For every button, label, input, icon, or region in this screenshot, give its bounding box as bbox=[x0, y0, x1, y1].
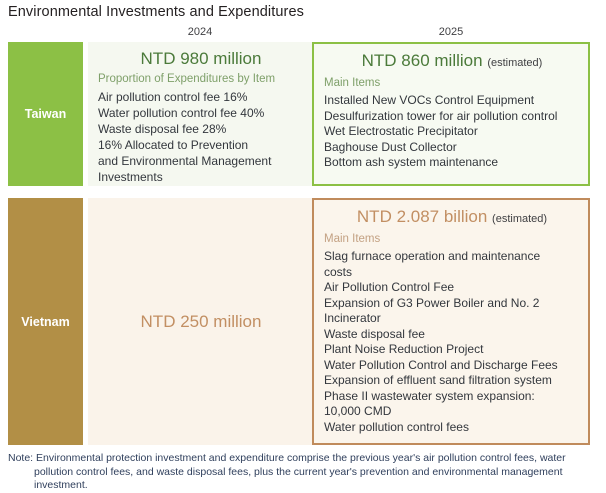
amount-vietnam-2024: NTD 250 million bbox=[141, 310, 262, 334]
cell-vietnam-2024: NTD 250 million bbox=[88, 198, 312, 445]
subhead-vietnam-2025: Main Items bbox=[324, 232, 580, 247]
item-list-taiwan-2025: Installed New VOCs Control Equipment Des… bbox=[324, 93, 580, 171]
list-item: Desulfurization tower for air pollution … bbox=[324, 109, 580, 125]
amount-taiwan-2025-value: NTD 860 million bbox=[362, 51, 483, 70]
subhead-taiwan-2025: Main Items bbox=[324, 76, 580, 91]
list-item: 16% Allocated to Prevention and Environm… bbox=[98, 137, 304, 185]
list-item: Waste disposal fee 28% bbox=[98, 121, 304, 137]
footnote-text: Environmental protection investment and … bbox=[34, 452, 566, 491]
column-header-previous-year: 2024 bbox=[88, 26, 312, 38]
amount-taiwan-2024: NTD 980 million bbox=[98, 47, 304, 71]
region-label-vietnam-text: Vietnam bbox=[21, 315, 69, 329]
list-item: Plant Noise Reduction Project bbox=[324, 342, 580, 358]
list-item: Installed New VOCs Control Equipment bbox=[324, 93, 580, 109]
list-item: Air Pollution Control Fee bbox=[324, 280, 580, 296]
footnote-body: Note: Environmental protection investmen… bbox=[8, 452, 596, 493]
list-item: Expansion of effluent sand filtration sy… bbox=[324, 373, 580, 389]
page-title: Environmental Investments and Expenditur… bbox=[8, 4, 304, 20]
footnote: Note: Environmental protection investmen… bbox=[8, 452, 596, 493]
list-item: Expansion of G3 Power Boiler and No. 2 I… bbox=[324, 296, 580, 327]
cell-taiwan-2024: NTD 980 million Proportion of Expenditur… bbox=[88, 42, 312, 186]
amount-taiwan-2024-value: NTD 980 million bbox=[141, 49, 262, 68]
cell-vietnam-2025: NTD 2.087 billion (estimated) Main Items… bbox=[312, 198, 590, 445]
item-list-taiwan-2024: Air pollution control fee 16% Water poll… bbox=[98, 89, 304, 185]
list-item: Phase II wastewater system expansion: 10… bbox=[324, 389, 580, 420]
list-item: Air pollution control fee 16% bbox=[98, 89, 304, 105]
list-item: Bottom ash system maintenance bbox=[324, 155, 580, 171]
estimated-tag-taiwan-2025: (estimated) bbox=[487, 57, 542, 69]
item-list-vietnam-2025: Slag furnace operation and maintenance c… bbox=[324, 249, 580, 435]
region-label-taiwan: Taiwan bbox=[8, 42, 83, 186]
list-item: Baghouse Dust Collector bbox=[324, 140, 580, 156]
amount-vietnam-2025-value: NTD 2.087 billion bbox=[357, 207, 487, 226]
amount-taiwan-2025: NTD 860 million (estimated) bbox=[324, 49, 580, 75]
list-item: Water pollution control fees bbox=[324, 420, 580, 436]
list-item: Water pollution control fee 40% bbox=[98, 105, 304, 121]
column-header-current-year: 2025 bbox=[312, 26, 590, 38]
amount-vietnam-2025: NTD 2.087 billion (estimated) bbox=[324, 205, 580, 231]
amount-vietnam-2024-value: NTD 250 million bbox=[141, 312, 262, 331]
footnote-label: Note: bbox=[8, 452, 33, 464]
estimated-tag-vietnam-2025: (estimated) bbox=[492, 213, 547, 225]
cell-taiwan-2025: NTD 860 million (estimated) Main Items I… bbox=[312, 42, 590, 186]
list-item: Water Pollution Control and Discharge Fe… bbox=[324, 358, 580, 374]
subhead-taiwan-2024: Proportion of Expenditures by Item bbox=[98, 72, 304, 87]
table-row-vietnam: Vietnam NTD 250 million NTD 2.087 billio… bbox=[0, 198, 606, 445]
list-item: Wet Electrostatic Precipitator bbox=[324, 124, 580, 140]
region-label-vietnam: Vietnam bbox=[8, 198, 83, 445]
region-label-taiwan-text: Taiwan bbox=[25, 107, 66, 121]
list-item: Waste disposal fee bbox=[324, 327, 580, 343]
list-item: Slag furnace operation and maintenance c… bbox=[324, 249, 580, 280]
table-row-taiwan: Taiwan NTD 980 million Proportion of Exp… bbox=[0, 42, 606, 186]
